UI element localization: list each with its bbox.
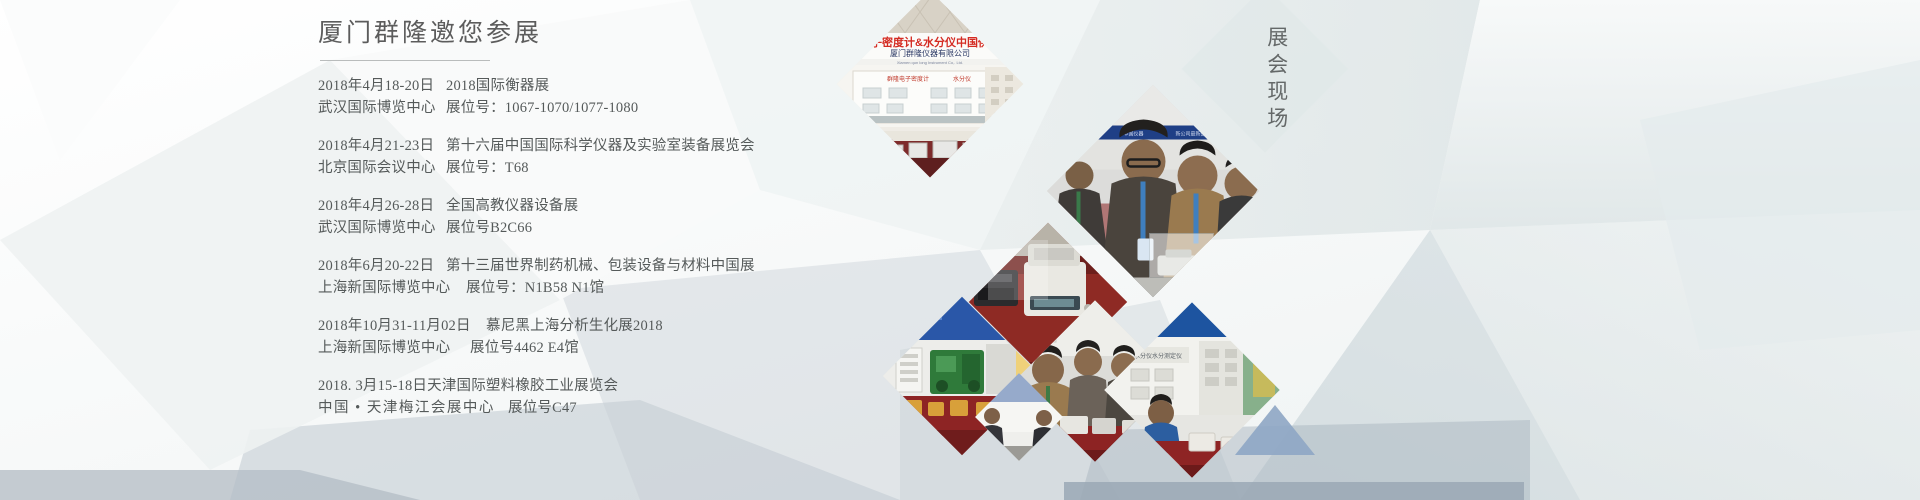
exhibition-booth: 展位号：N1B58 N1馆 xyxy=(466,277,604,299)
exhibition-entry-4: 2018年6月20-22日 第十三届世界制药机械、包装设备与材料中国展 上海新国… xyxy=(318,255,1078,299)
exhibition-banner: 厦门群隆邀您参展 2018年4月18-20日 2018国际衡器展 武汉国际博览中… xyxy=(0,0,1920,500)
exhibition-date: 2018年6月20-22日 xyxy=(318,255,446,277)
photo-tile-blue-booth-display: 5elGRT 水分仪水分测定仪 xyxy=(1104,302,1279,477)
exhibition-entry-2: 2018年4月21-23日 第十六届中国国际科学仪器及实验室装备展览会 北京国际… xyxy=(318,135,1078,179)
exhibition-date: 2018年4月18-20日 xyxy=(318,75,446,97)
exhibition-name: 慕尼黑上海分析生化展2018 xyxy=(486,315,663,337)
svg-text:水分仪水分测定仪: 水分仪水分测定仪 xyxy=(1134,352,1182,360)
exhibition-row-date-name: 2018年4月18-20日 2018国际衡器展 xyxy=(318,75,1078,97)
exhibition-booth: 展位号B2C66 xyxy=(446,217,532,239)
title-underline xyxy=(320,60,490,61)
exhibition-entry-3: 2018年4月26-28日 全国高教仪器设备展 武汉国际博览中心 展位号B2C6… xyxy=(318,195,1078,239)
exhibition-venue: 上海新国际博览中心 xyxy=(318,277,466,299)
exhibition-venue: 北京国际会议中心 xyxy=(318,157,446,179)
exhibition-row-date-name: 2018年4月21-23日 第十六届中国国际科学仪器及实验室装备展览会 xyxy=(318,135,1078,157)
exhibition-row-venue-booth: 武汉国际博览中心 展位号：1067-1070/1077-1080 xyxy=(318,97,1078,119)
svg-text:5elGRT: 5elGRT xyxy=(1223,314,1262,326)
exhibition-row-venue-booth: 北京国际会议中心 展位号：T68 xyxy=(318,157,1078,179)
exhibition-entry-6: 2018. 3月15-18日天津国际塑料橡胶工业展览会 中国 • 天津梅江会展中… xyxy=(318,375,1078,419)
exhibition-name: 第十三届世界制药机械、包装设备与材料中国展 xyxy=(446,255,755,277)
section-label-vertical: 展会现场 xyxy=(1262,26,1290,134)
exhibition-booth: 展位号：T68 xyxy=(446,157,529,179)
exhibition-name: 2018国际衡器展 xyxy=(446,75,549,97)
exhibition-date: 2018年4月21-23日 xyxy=(318,135,446,157)
exhibition-row-date-name: 2018年4月26-28日 全国高教仪器设备展 xyxy=(318,195,1078,217)
exhibition-row-venue-booth: 上海新国际博览中心 展位号：N1B58 N1馆 xyxy=(318,277,1078,299)
exhibition-date: 2018年10月31-11月02日 xyxy=(318,315,486,337)
exhibition-name: 第十六届中国国际科学仪器及实验室装备展览会 xyxy=(446,135,755,157)
exhibition-venue: 上海新国际博览中心 xyxy=(318,337,470,359)
exhibition-booth: 展位号：1067-1070/1077-1080 xyxy=(446,97,638,119)
exhibition-date: 2018. 3月15-18日天津国际塑料橡胶工业展览会 xyxy=(318,375,618,397)
exhibition-venue: 武汉国际博览中心 xyxy=(318,217,446,239)
exhibition-booth: 展位号C47 xyxy=(508,397,577,419)
exhibition-name: 全国高教仪器设备展 xyxy=(446,195,578,217)
exhibition-entry-5: 2018年10月31-11月02日 慕尼黑上海分析生化展2018 上海新国际博览… xyxy=(318,315,1078,359)
exhibition-list: 厦门群隆邀您参展 2018年4月18-20日 2018国际衡器展 武汉国际博览中… xyxy=(318,18,1078,435)
exhibition-venue: 中国 • 天津梅江会展中心 xyxy=(318,397,508,419)
exhibition-row-date-name: 2018年10月31-11月02日 慕尼黑上海分析生化展2018 xyxy=(318,315,1078,337)
exhibition-date: 2018年4月26-28日 xyxy=(318,195,446,217)
exhibition-row-venue-booth: 武汉国际博览中心 展位号B2C66 xyxy=(318,217,1078,239)
exhibition-row-venue-booth: 中国 • 天津梅江会展中心 展位号C47 xyxy=(318,397,1078,419)
exhibition-entry-1: 2018年4月18-20日 2018国际衡器展 武汉国际博览中心 展位号：106… xyxy=(318,75,1078,119)
exhibition-row-date-name: 2018年6月20-22日 第十三届世界制药机械、包装设备与材料中国展 xyxy=(318,255,1078,277)
exhibition-row-venue-booth: 上海新国际博览中心 展位号4462 E4馆 xyxy=(318,337,1078,359)
exhibition-booth: 展位号4462 E4馆 xyxy=(470,337,579,359)
blue-booth-display-photo: 5elGRT 水分仪水分测定仪 xyxy=(1104,302,1279,477)
page-title: 厦门群隆邀您参展 xyxy=(318,18,1078,51)
exhibition-venue: 武汉国际博览中心 xyxy=(318,97,446,119)
exhibition-row-date-name: 2018. 3月15-18日天津国际塑料橡胶工业展览会 xyxy=(318,375,1078,397)
